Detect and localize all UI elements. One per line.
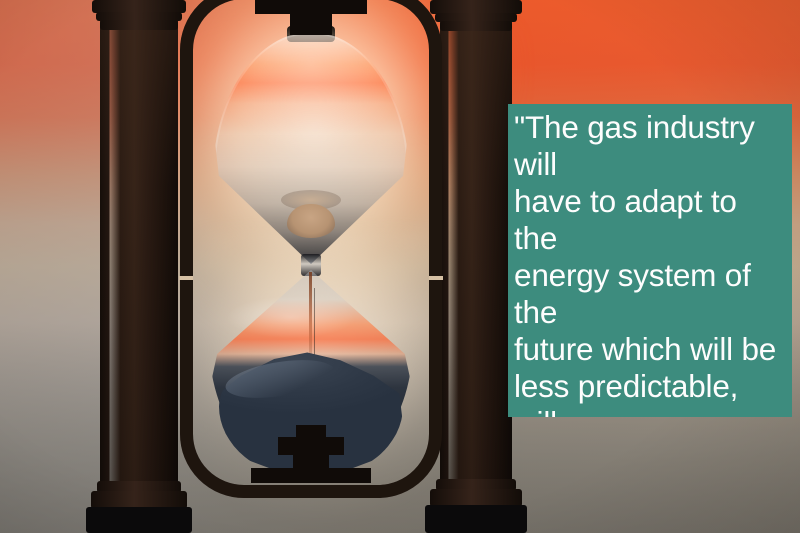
frame-right-rail-joint — [429, 276, 443, 280]
left-pillar-capital-low — [100, 20, 178, 30]
right-pillar-capital-low — [440, 21, 512, 31]
right-pillar-base-lower — [425, 505, 527, 533]
frame-bottom-bracket-bar — [251, 468, 371, 483]
left-pillar — [100, 0, 178, 533]
image-canvas: "The gas industry will have to adapt to … — [0, 0, 800, 533]
quote-overlay-card: "The gas industry will have to adapt to … — [508, 104, 792, 417]
right-pillar-shaft — [440, 0, 512, 533]
right-pillar-capital-top — [430, 0, 522, 14]
quote-text: "The gas industry will have to adapt to … — [514, 109, 786, 417]
frame-left-rail-joint — [179, 276, 193, 280]
frame-top-bracket-stem — [290, 9, 332, 35]
frame-bottom-bracket-cup — [278, 437, 344, 455]
right-pillar — [440, 0, 512, 533]
hourglass-frame-arch — [180, 0, 442, 498]
left-pillar-shaft — [100, 0, 178, 533]
left-pillar-base-lower — [86, 507, 192, 533]
